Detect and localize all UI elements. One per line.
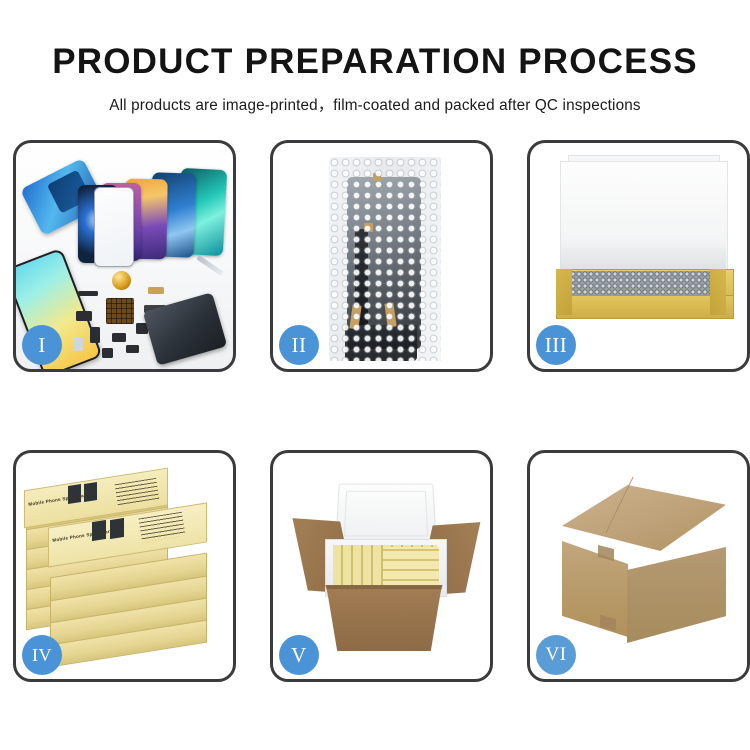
step-badge-3: III [536, 325, 576, 365]
process-step-5: V [270, 450, 493, 682]
carton-front-graphic [319, 589, 449, 651]
step-badge-1: I [22, 325, 62, 365]
page-title: PRODUCT PREPARATION PROCESS [0, 0, 750, 79]
bubble-bag-graphic [329, 157, 441, 361]
box-tray-right-graphic [710, 269, 726, 315]
page-subtitle: All products are image-printed，film-coat… [0, 79, 750, 115]
spare-part-graphic [148, 287, 164, 294]
process-step-1: I [13, 140, 236, 372]
tempered-glass-graphic [94, 187, 134, 267]
step-badge-2: II [279, 325, 319, 365]
process-step-grid: I II [13, 140, 737, 682]
gold-component-graphic [112, 271, 131, 290]
process-step-6: VI [527, 450, 750, 682]
process-step-3: III [527, 140, 750, 372]
carton-left-graphic [562, 541, 628, 637]
step-badge-6: VI [536, 635, 576, 675]
step-badge-4: IV [22, 635, 62, 675]
spare-part-graphic [90, 327, 100, 343]
spare-part-graphic [74, 337, 83, 351]
phone-back-housing-graphic [143, 292, 228, 366]
lid-shadow [560, 239, 726, 273]
process-step-2: II [270, 140, 493, 372]
carton-seam-graphic [605, 477, 687, 559]
spare-part-graphic [126, 345, 139, 353]
spare-part-graphic [102, 348, 113, 358]
header: PRODUCT PREPARATION PROCESS All products… [0, 0, 750, 115]
packed-yellow-boxes-graphic [383, 547, 439, 589]
product-preparation-infographic: PRODUCT PREPARATION PROCESS All products… [0, 0, 750, 750]
box-tray-left-graphic [556, 269, 572, 315]
foam-lid-graphic [335, 484, 437, 545]
box-tray-front-graphic [556, 295, 734, 319]
spare-part-graphic [76, 311, 92, 321]
spare-part-graphic [78, 291, 98, 296]
bubble-texture [329, 157, 441, 361]
spare-part-graphic [112, 333, 126, 342]
chip-array-graphic [106, 298, 134, 324]
carton-right-graphic [627, 547, 726, 643]
step-badge-5: V [279, 635, 319, 675]
tweezers-graphic [196, 255, 224, 276]
process-step-4: Mobile Phone Spare Parts Mobile Phone Sp… [13, 450, 236, 682]
